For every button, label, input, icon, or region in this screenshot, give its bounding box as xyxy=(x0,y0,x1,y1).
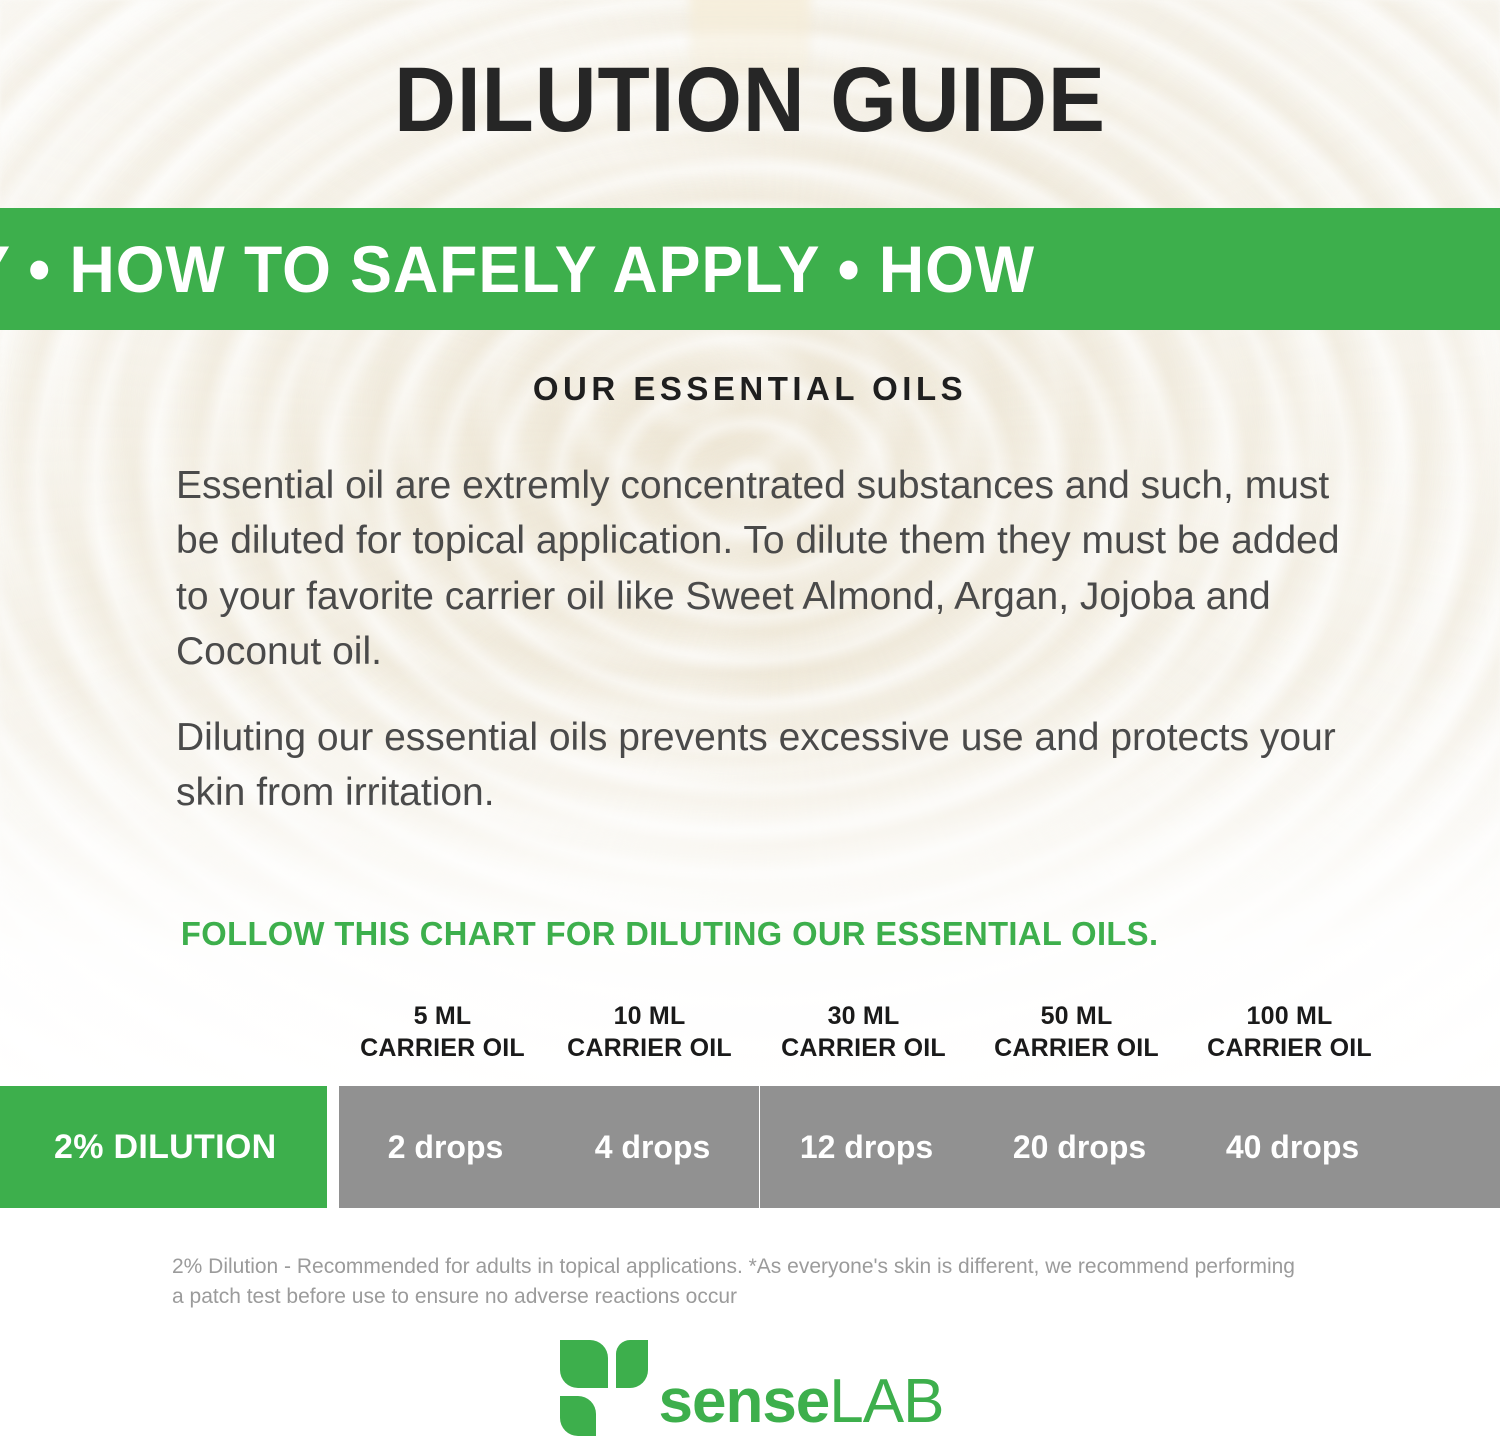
cell-drops-5ml: 2 drops xyxy=(339,1086,552,1208)
column-header-100ml: 100 ML CARRIER OIL xyxy=(1183,1000,1396,1064)
column-header-amount: 30 ML xyxy=(828,1002,900,1030)
footnote-text: 2% Dilution - Recommended for adults in … xyxy=(172,1252,1302,1313)
cell-drops-100ml: 40 drops xyxy=(1186,1086,1399,1208)
column-header-amount: 50 ML xyxy=(1041,1002,1113,1030)
column-header-amount: 10 ML xyxy=(614,1002,686,1030)
marquee-banner: PPLY • HOW TO SAFELY APPLY • HOW xyxy=(0,208,1500,330)
dilution-chart-data-row: 2% DILUTION 2 drops 4 drops 12 drops 20 … xyxy=(0,1086,1500,1208)
marquee-banner-text: PPLY • HOW TO SAFELY APPLY • HOW xyxy=(0,231,1035,307)
cell-drops-50ml: 20 drops xyxy=(973,1086,1186,1208)
cell-drops-30ml: 12 drops xyxy=(760,1086,973,1208)
brand-logo: senseLAB xyxy=(0,1336,1500,1440)
dilution-chart: 5 ML CARRIER OIL 10 ML CARRIER OIL 30 ML… xyxy=(0,1000,1500,1208)
dilution-chart-header-row: 5 ML CARRIER OIL 10 ML CARRIER OIL 30 ML… xyxy=(0,1000,1500,1086)
brand-logo-wordmark: senseLAB xyxy=(658,1371,943,1433)
column-header-amount: 100 ML xyxy=(1247,1002,1333,1030)
column-header-unit: CARRIER OIL xyxy=(994,1034,1159,1062)
column-header-unit: CARRIER OIL xyxy=(781,1034,946,1062)
body-paragraph-2: Diluting our essential oils prevents exc… xyxy=(176,710,1356,821)
cell-clipped-trailing xyxy=(1387,1086,1500,1208)
dilution-guide-infographic: DILUTION GUIDE PPLY • HOW TO SAFELY APPL… xyxy=(0,0,1500,1448)
body-paragraph-1: Essential oil are extremly concentrated … xyxy=(176,458,1356,680)
column-header-unit: CARRIER OIL xyxy=(360,1034,525,1062)
column-header-unit: CARRIER OIL xyxy=(567,1034,732,1062)
column-header-50ml: 50 ML CARRIER OIL xyxy=(970,1000,1183,1064)
column-header-30ml: 30 ML CARRIER OIL xyxy=(757,1000,970,1064)
brand-logo-sense: sense xyxy=(658,1367,829,1436)
row-label-2-percent-dilution: 2% DILUTION xyxy=(0,1086,327,1208)
column-header-10ml: 10 ML CARRIER OIL xyxy=(543,1000,756,1064)
section-subtitle: OUR ESSENTIAL OILS xyxy=(0,370,1500,408)
page-title: DILUTION GUIDE xyxy=(53,54,1448,146)
brand-logo-lab: LAB xyxy=(829,1367,943,1436)
cell-drops-10ml: 4 drops xyxy=(546,1086,759,1208)
body-copy: Essential oil are extremly concentrated … xyxy=(176,458,1356,820)
senselab-leaf-icon xyxy=(556,1336,652,1440)
column-header-unit: CARRIER OIL xyxy=(1207,1034,1372,1062)
column-header-amount: 5 ML xyxy=(414,1002,472,1030)
chart-callout: FOLLOW THIS CHART FOR DILUTING OUR ESSEN… xyxy=(181,915,1159,953)
column-header-5ml: 5 ML CARRIER OIL xyxy=(336,1000,549,1064)
